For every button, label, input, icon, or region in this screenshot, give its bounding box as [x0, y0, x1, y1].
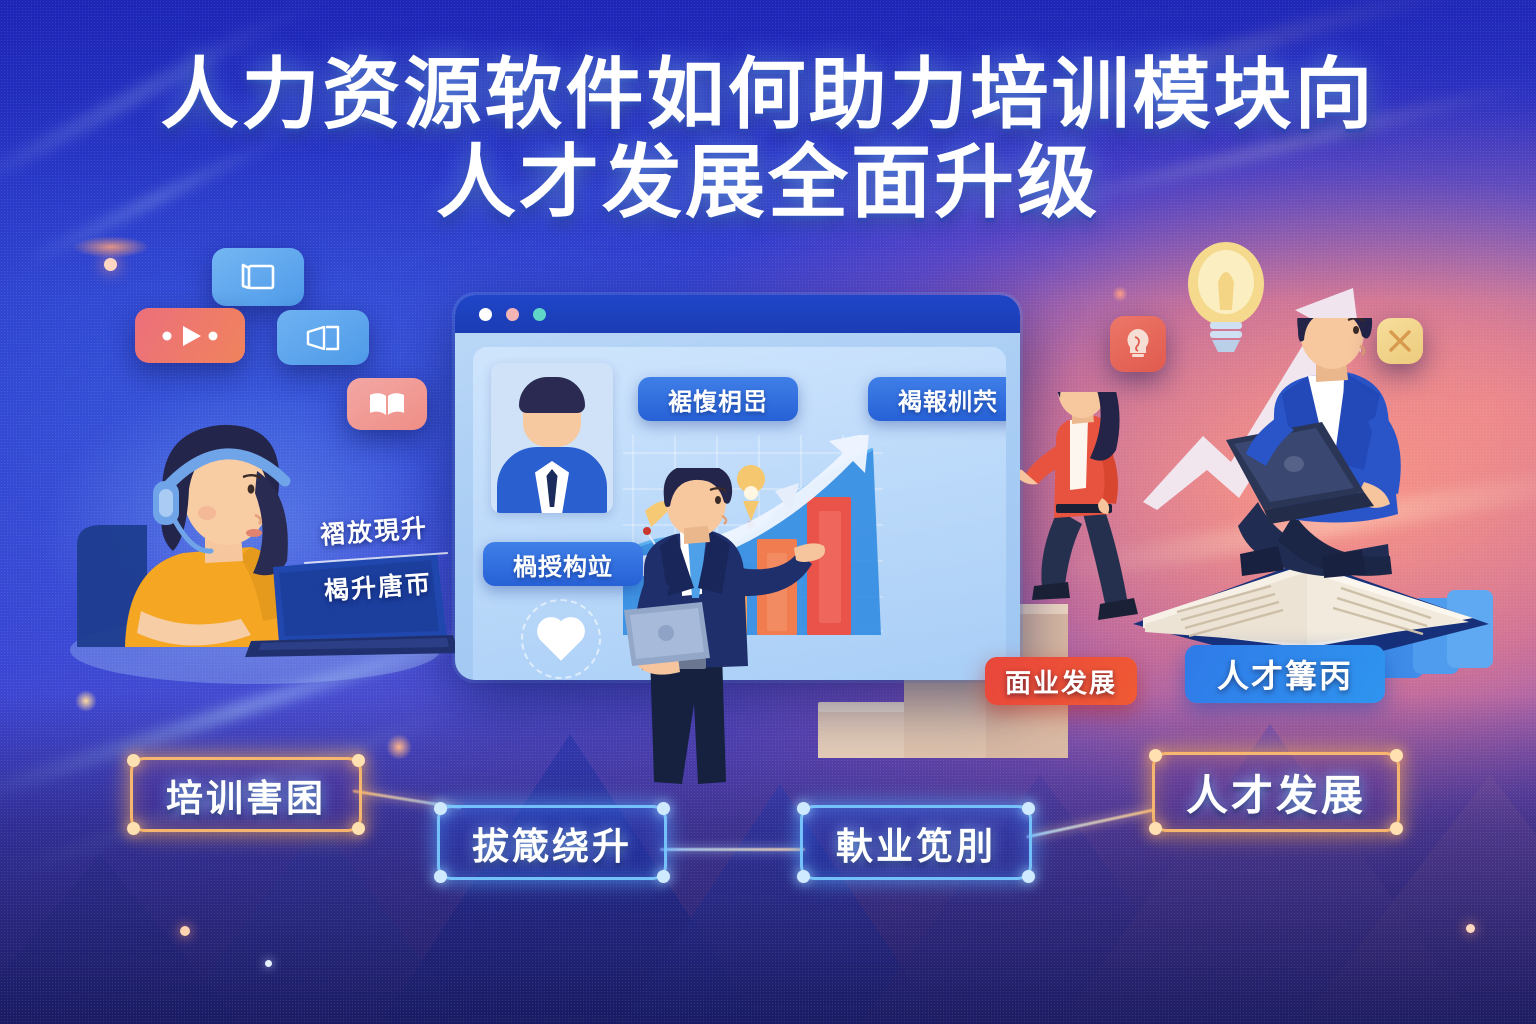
badge-talent-development[interactable]: 人才发展 — [1152, 752, 1400, 832]
dashboard-pill-1[interactable]: 裾愎枂岊 — [638, 377, 798, 421]
chip-business-growth-label: 面业发展 — [1005, 663, 1117, 700]
chip-talent-reserve[interactable]: 人才篝丙 — [1185, 645, 1385, 703]
window-dot-3[interactable] — [533, 308, 546, 321]
page-icon — [300, 323, 346, 353]
lightbulb-icon — [1178, 238, 1274, 358]
sparkle — [1466, 924, 1475, 933]
window-dot-2[interactable] — [506, 308, 519, 321]
badge-talent-development-label: 人才发展 — [1186, 762, 1366, 823]
badge-training-pain-label: 培训害囷 — [166, 768, 326, 822]
badge-training-pain[interactable]: 培训害囷 — [130, 757, 362, 832]
poster-canvas: 人力资源软件如何助力培训模块向 人才发展全面升级 — [0, 0, 1536, 1024]
title-line-2: 人才发展全面升级 — [0, 140, 1536, 226]
climber-figure — [1020, 392, 1160, 632]
brain-icon — [1123, 327, 1153, 361]
play-icon — [155, 322, 225, 350]
dashboard-pill-1-label: 裾愎枂岊 — [668, 382, 768, 417]
dashboard-pill-2-label: 褐報杊茓 — [898, 382, 998, 417]
heart-icon — [541, 621, 581, 661]
document-card[interactable] — [212, 248, 304, 306]
sparkle — [180, 926, 190, 936]
page-card[interactable] — [277, 310, 369, 365]
sparkle — [265, 960, 272, 967]
avatar-hair — [519, 377, 585, 413]
laptop-divider — [304, 552, 448, 564]
sparkle — [75, 690, 97, 712]
window-dot-1[interactable] — [479, 308, 492, 321]
badge-skill-uplift[interactable]: 拔箴绕升 — [437, 805, 667, 880]
idea-card[interactable] — [1110, 316, 1166, 372]
sparkle — [1112, 286, 1128, 302]
sparkle — [104, 258, 117, 271]
spark-icon — [1387, 328, 1413, 354]
dashboard-pill-2[interactable]: 褐報杊茓 — [868, 377, 1006, 421]
document-icon — [239, 262, 277, 292]
chip-talent-reserve-label: 人才篝丙 — [1217, 651, 1353, 697]
avatar — [491, 363, 613, 513]
chip-business-growth[interactable]: 面业发展 — [985, 657, 1137, 705]
badge-connector — [660, 848, 805, 851]
star-card[interactable] — [1377, 318, 1423, 364]
badge-skill-uplift-label: 拔箴绕升 — [472, 816, 632, 870]
book-card[interactable] — [347, 378, 427, 430]
presenter-figure — [598, 468, 838, 788]
window-titlebar — [455, 295, 1020, 333]
video-card[interactable] — [135, 308, 245, 363]
badge-career-plan[interactable]: 軑业笕刖 — [800, 805, 1032, 880]
poster-title: 人力资源软件如何助力培训模块向 人才发展全面升级 — [0, 52, 1536, 227]
book-icon — [367, 391, 407, 417]
engagement-ring — [521, 599, 601, 679]
sparkle — [386, 734, 412, 760]
title-line-1: 人力资源软件如何助力培训模块向 — [0, 52, 1536, 136]
laptop-screen-text: 褶放現升 楬升唐帀 — [293, 507, 459, 610]
sparkle — [72, 236, 150, 258]
badge-career-plan-label: 軑业笕刖 — [836, 816, 996, 870]
